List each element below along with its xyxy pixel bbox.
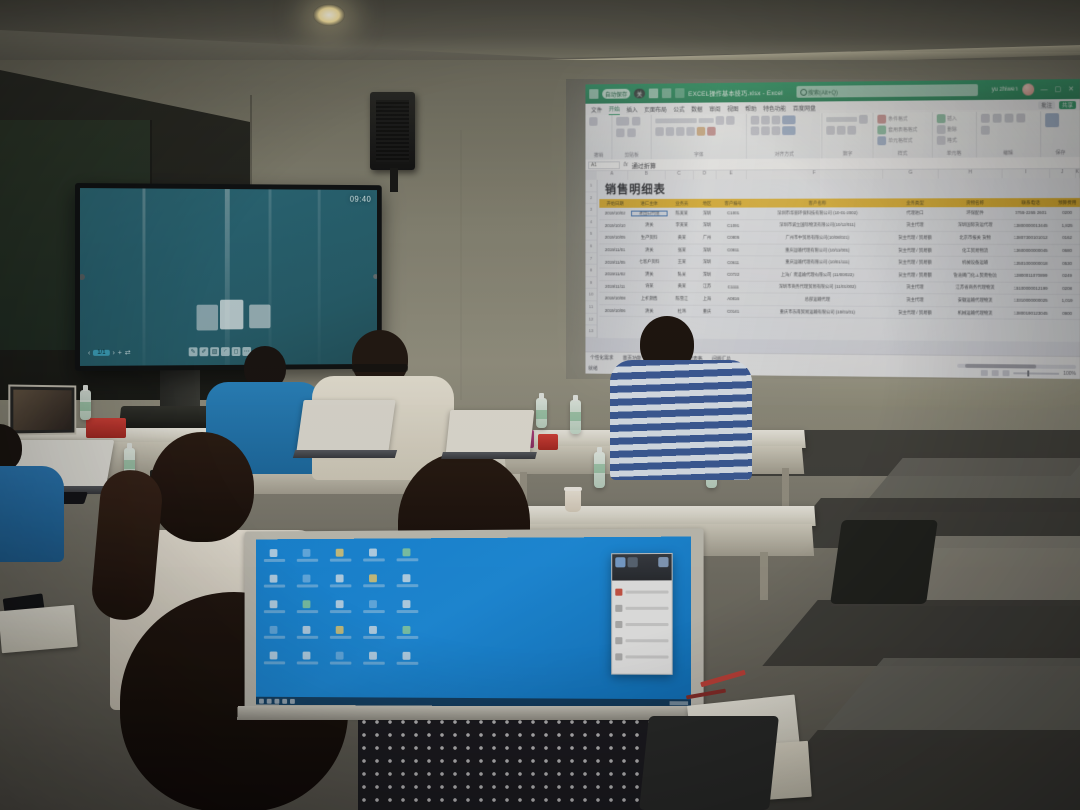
- sheet-heading: 销售明细表: [605, 181, 666, 198]
- avatar: [615, 557, 625, 567]
- cell[interactable]: 0162: [1054, 235, 1080, 240]
- undo-icon[interactable]: [662, 88, 671, 98]
- group-label: 单元格: [936, 150, 971, 158]
- insert-cells-icon[interactable]: [936, 114, 945, 123]
- cell-styles-icon[interactable]: [878, 136, 887, 145]
- wall-seam: [460, 130, 462, 400]
- th-business-type: 业务类型: [887, 200, 943, 206]
- screen-glare: [197, 305, 218, 331]
- avatar: [658, 557, 668, 567]
- smart-whiteboard[interactable]: 09:40 ‹ 1/1 › + ⇄ ✎ ✐ ▧ ◜ ◻ ⋯: [75, 183, 382, 371]
- align-right-icon[interactable]: [772, 126, 781, 135]
- ribbon-group-alignment: 对齐方式: [747, 113, 823, 159]
- search-box[interactable]: 搜索(Alt+Q): [796, 84, 977, 98]
- cell[interactable]: 陈某: [668, 271, 696, 277]
- th-phone: 联系电话: [1007, 200, 1054, 206]
- cell[interactable]: 代理进口: [887, 210, 943, 216]
- cell[interactable]: 1,019: [1054, 298, 1080, 303]
- ribbon-group-editing: 编辑: [977, 111, 1041, 157]
- cell[interactable]: 深圳市诚立国际物流有限公司(10/12/011): [748, 222, 887, 228]
- select-all-corner[interactable]: [585, 171, 596, 180]
- document-name: EXCEL操作基本技巧.xlsx - Excel: [688, 87, 783, 98]
- cell[interactable]: C0722: [718, 272, 748, 277]
- highlighter-icon[interactable]: ✐: [199, 347, 208, 356]
- cell[interactable]: 上海: [696, 296, 718, 302]
- chat-icon[interactable]: [282, 698, 287, 703]
- cell[interactable]: 2019/10/10: [599, 223, 630, 228]
- save-icon[interactable]: [649, 88, 658, 98]
- glasses-icon: [352, 364, 408, 372]
- conditional-format-icon[interactable]: [878, 115, 887, 124]
- cell[interactable]: 货主代理: [887, 222, 943, 228]
- pen-icon[interactable]: ✎: [189, 347, 198, 356]
- cell[interactable]: 货主代理 / 贸易额: [887, 272, 943, 278]
- close-button[interactable]: ✕: [1068, 85, 1074, 93]
- tab-features[interactable]: 特色功能: [763, 103, 786, 112]
- ribbon-right-actions: 批注 共享: [1038, 101, 1080, 109]
- merge-center-icon[interactable]: [782, 126, 795, 135]
- cell[interactable]: 黄某: [668, 235, 696, 241]
- fill-color-icon[interactable]: [697, 127, 705, 136]
- ribbon-body: 撤销 剪贴板 字体: [585, 111, 1080, 161]
- table-row[interactable]: 2019/11/01 清关 张某 深圳 C0811 重庆运输代理有限公司 (10…: [599, 244, 1080, 257]
- water-bottle: [536, 398, 547, 428]
- paper-sheet: [0, 605, 78, 653]
- cell[interactable]: 环保配件: [943, 210, 1007, 216]
- ribbon-group-styles: 条件格式 套用表格格式 单元格样式 样式: [874, 112, 933, 158]
- ribbon-group-number: 数字: [823, 113, 874, 159]
- tab-formulas[interactable]: 公式: [673, 104, 684, 113]
- whiteboard-page-nav[interactable]: ‹ 1/1 › + ⇄: [88, 349, 131, 357]
- wechat-header: [612, 554, 671, 581]
- view-page-layout-icon[interactable]: [992, 370, 999, 376]
- table-row[interactable]: 2019/10/02 进出口代理 陈某某 深圳 C1001 深圳市华丽环保科技有…: [599, 207, 1080, 220]
- cell[interactable]: 广州: [696, 235, 718, 241]
- carpet-tile: [816, 658, 1080, 738]
- cell[interactable]: 0530: [1054, 261, 1080, 266]
- cell-styles-label: 单元格样式: [888, 137, 912, 144]
- cell[interactable]: 机械运输代理物流: [943, 310, 1007, 316]
- th-salesperson: 业务员: [668, 200, 696, 206]
- notification-badge-icon: [615, 589, 622, 596]
- comments-button[interactable]: 批注: [1038, 101, 1055, 109]
- whiteboard-clock: 09:40: [350, 195, 371, 204]
- red-box-item: [86, 418, 126, 438]
- status-ready: 就绪: [588, 365, 597, 372]
- plus-icon[interactable]: +: [118, 349, 122, 356]
- chat-list-item[interactable]: [615, 635, 668, 646]
- row-header[interactable]: 13: [585, 325, 596, 337]
- carpet-tile: [762, 600, 1080, 666]
- cell[interactable]: C0805: [718, 235, 748, 240]
- currency-icon[interactable]: [827, 126, 836, 135]
- cell[interactable]: 上海广易运输代理有限公司 (11/00/022): [748, 272, 887, 278]
- maximize-button[interactable]: ▢: [1055, 85, 1062, 93]
- screen-glare: [249, 305, 270, 329]
- cell[interactable]: 2019/11/05: [599, 260, 630, 265]
- cell[interactable]: 13310000000025: [1007, 298, 1054, 303]
- ribbon-group-save: 保存: [1041, 111, 1080, 157]
- classroom-photo-scene: 自动保存 关 EXCEL操作基本技巧.xlsx - Excel 搜索(Alt+Q…: [0, 0, 1080, 810]
- system-tray[interactable]: [670, 701, 689, 705]
- cell[interactable]: 王某: [668, 259, 696, 265]
- chevron-left-icon[interactable]: ‹: [88, 349, 90, 356]
- cell[interactable]: 进出口代理: [631, 210, 668, 216]
- cell[interactable]: 13807300101012: [1007, 235, 1054, 240]
- col-D[interactable]: D: [694, 171, 717, 180]
- speaker-mount: [390, 168, 398, 192]
- tab-home[interactable]: 开始: [609, 104, 620, 115]
- th-import-entity: 进口主体: [631, 200, 668, 206]
- cell[interactable]: 深圳: [696, 223, 718, 229]
- cell[interactable]: 深圳: [696, 247, 718, 253]
- cell[interactable]: 货主代理 / 贸易额: [887, 235, 943, 241]
- col-H[interactable]: H: [939, 169, 1003, 178]
- col-A[interactable]: A: [597, 171, 629, 180]
- cell[interactable]: 重庆: [696, 308, 718, 314]
- cell[interactable]: 深圳国际货运代理: [943, 222, 1007, 228]
- delete-label: 删除: [947, 126, 957, 133]
- row-header[interactable]: 12: [585, 313, 596, 325]
- align-left-icon[interactable]: [751, 126, 760, 135]
- tab-file[interactable]: 文件: [591, 105, 602, 114]
- row-header[interactable]: 1: [585, 180, 596, 192]
- view-page-break-icon[interactable]: [1003, 370, 1010, 376]
- col-J[interactable]: J: [1050, 169, 1076, 178]
- cell[interactable]: 13800011070899: [1007, 273, 1054, 278]
- cell[interactable]: C0811: [718, 248, 748, 253]
- shape-icon[interactable]: ◻: [232, 347, 241, 356]
- cell[interactable]: 重庆运输代理有限公司 (10/01/111): [748, 259, 887, 265]
- percent-icon[interactable]: [837, 126, 846, 135]
- whiteboard-screen[interactable]: 09:40 ‹ 1/1 › + ⇄ ✎ ✐ ▧ ◜ ◻ ⋯: [80, 188, 377, 366]
- row-header[interactable]: 7: [585, 253, 596, 265]
- chair: [639, 716, 779, 810]
- folder-icon[interactable]: [267, 698, 272, 703]
- paper-cup: [565, 490, 581, 512]
- cell[interactable]: 化工贸易物流: [943, 247, 1007, 253]
- cell[interactable]: 重庆市东南贸易运输有限公司 (10/01/01): [748, 309, 887, 316]
- th-goods-name: 货物名称: [943, 200, 1007, 206]
- cell[interactable]: 七客户资料: [631, 259, 668, 265]
- col-K[interactable]: K: [1076, 169, 1080, 178]
- cell[interactable]: 2019/10/08: [599, 296, 630, 301]
- cell[interactable]: 0900: [1054, 311, 1080, 316]
- row-header[interactable]: 9: [585, 277, 596, 289]
- format-table-label: 套用表格格式: [888, 126, 917, 133]
- col-G[interactable]: G: [883, 170, 939, 179]
- cell[interactable]: 深圳: [696, 210, 718, 216]
- cell[interactable]: C1091: [718, 223, 748, 228]
- comma-icon[interactable]: [848, 126, 857, 135]
- increase-font-icon[interactable]: [716, 116, 725, 125]
- formula-input[interactable]: 通过折算: [632, 160, 656, 170]
- chat-list-item[interactable]: [615, 603, 668, 614]
- cell[interactable]: 2019/10/05: [599, 235, 630, 240]
- cell[interactable]: 深圳市商务代理贸易有限公司 (11/01/002): [748, 284, 887, 290]
- group-label: 撤销: [589, 152, 608, 160]
- screen-glare: [220, 300, 243, 330]
- cell[interactable]: 2019/11/11: [599, 284, 630, 289]
- cell[interactable]: 上机销售: [631, 296, 668, 302]
- fill-icon[interactable]: [992, 114, 1001, 123]
- start-icon[interactable]: [259, 698, 264, 703]
- align-center-icon[interactable]: [761, 126, 770, 135]
- cell[interactable]: 0249: [1054, 273, 1080, 278]
- cell[interactable]: 清关: [631, 247, 668, 253]
- whiteboard-toolbar[interactable]: ✎ ✐ ▧ ◜ ◻ ⋯: [189, 347, 251, 356]
- cell[interactable]: 黄某: [668, 284, 696, 290]
- sales-detail-table: 开始日期 进口主体 业务员 地区 客户编号 客户名称 业务类型 货物名称 联系电…: [599, 198, 1080, 320]
- share-button[interactable]: 共享: [1059, 101, 1076, 109]
- sort-filter-icon[interactable]: [1016, 113, 1025, 122]
- clear-icon[interactable]: [1004, 114, 1013, 123]
- autosave-label: 自动保存: [605, 89, 627, 98]
- row-header[interactable]: 5: [585, 228, 596, 240]
- tab-baidu-netdisk[interactable]: 百度网盘: [793, 103, 816, 112]
- number-format-dropdown-icon[interactable]: [859, 115, 868, 124]
- row-header[interactable]: 10: [585, 289, 596, 301]
- cell[interactable]: 李某某: [668, 223, 696, 229]
- cell[interactable]: 2019/10/06: [599, 308, 630, 313]
- cell[interactable]: 机械设备运输: [943, 260, 1007, 266]
- align-middle-icon[interactable]: [761, 116, 770, 125]
- eraser-icon[interactable]: ▧: [210, 347, 219, 356]
- cell[interactable]: 15100000012199: [1007, 286, 1054, 291]
- user-name: yu zhiwen: [992, 87, 1018, 93]
- col-E[interactable]: E: [716, 170, 746, 179]
- cell[interactable]: 管道阀门化工贸易物流: [943, 272, 1007, 278]
- ribbon-group-font: 字体: [652, 114, 747, 159]
- water-bottle: [570, 400, 581, 434]
- undo-icon[interactable]: [589, 117, 597, 126]
- ribbon-group-cells: 插入 删除 格式 单元格: [933, 112, 977, 158]
- cell[interactable]: A0816: [718, 297, 748, 302]
- cell[interactable]: 安徽运输代理物流: [943, 297, 1007, 303]
- water-bottle: [594, 452, 605, 488]
- row-header[interactable]: 3: [585, 204, 596, 216]
- cell[interactable]: 陈雪江: [668, 296, 696, 302]
- laptop-screen[interactable]: [256, 537, 691, 708]
- baidu-netdisk-icon[interactable]: [1045, 113, 1059, 127]
- cell[interactable]: C0611: [718, 260, 748, 265]
- bold-icon[interactable]: [655, 127, 663, 136]
- cell[interactable]: 深圳: [696, 259, 718, 265]
- cell[interactable]: C1001: [718, 211, 748, 216]
- cell[interactable]: 广州市中贸易有限公司(10/08/021): [748, 235, 887, 241]
- cell[interactable]: 13501000000018: [1007, 261, 1054, 266]
- screen-reflection: [142, 188, 145, 365]
- table-row[interactable]: 2019/10/05 生产资料 黄某 广州 C0805 广州市中贸易有限公司(1…: [599, 232, 1080, 245]
- view-normal-icon[interactable]: [981, 370, 988, 376]
- lasso-icon[interactable]: ◜: [221, 347, 230, 356]
- tab-insert[interactable]: 插入: [626, 105, 637, 114]
- th-customer-id: 客户编号: [718, 200, 748, 206]
- italic-icon[interactable]: [666, 127, 674, 136]
- format-label: 格式: [947, 137, 957, 144]
- zoom-slider[interactable]: [1014, 372, 1060, 374]
- share-icon[interactable]: ⇄: [125, 349, 131, 357]
- account-area[interactable]: yu zhiwen — ▢ ✕: [992, 83, 1076, 96]
- desk-leg: [782, 468, 789, 508]
- zoom-level[interactable]: 100%: [1063, 371, 1076, 377]
- cell[interactable]: 重庆运输代理有限公司 (10/11/001): [748, 247, 887, 253]
- wechat-window[interactable]: [611, 553, 672, 675]
- conditional-format-label: 条件格式: [888, 115, 907, 122]
- water-bottle: [80, 390, 91, 420]
- row-header[interactable]: 11: [585, 301, 596, 313]
- desk-leg: [760, 552, 768, 600]
- cell[interactable]: 13800000013445: [1007, 223, 1054, 228]
- cell[interactable]: 清关: [631, 308, 668, 314]
- row-header[interactable]: 4: [585, 216, 596, 228]
- autosave-state[interactable]: 关: [634, 89, 645, 99]
- status-right-controls: 100%: [981, 370, 1076, 377]
- minimize-button[interactable]: —: [1041, 86, 1048, 93]
- group-label: 保存: [1045, 149, 1076, 157]
- chair: [830, 520, 938, 604]
- chat-list-item[interactable]: [615, 586, 668, 597]
- avatar: [628, 557, 638, 567]
- cell[interactable]: 北京市报关 货物: [943, 235, 1007, 241]
- horizontal-scrollbar[interactable]: [957, 364, 1076, 369]
- delete-cells-icon[interactable]: [936, 125, 945, 134]
- row-header[interactable]: 8: [585, 265, 596, 277]
- row-header[interactable]: 2: [585, 192, 596, 204]
- cell[interactable]: 0200: [1054, 210, 1080, 215]
- ceiling-downlight: [313, 4, 345, 26]
- cell[interactable]: 货主代理: [887, 297, 943, 303]
- cell[interactable]: 1,825: [1054, 223, 1080, 228]
- cell[interactable]: 2019/10/02: [599, 211, 630, 216]
- font-color-icon[interactable]: [707, 127, 716, 136]
- wrap-text-icon[interactable]: [782, 115, 795, 124]
- group-label: 剪贴板: [616, 152, 647, 160]
- find-select-icon[interactable]: [980, 126, 989, 135]
- cell[interactable]: 13600000000045: [1007, 248, 1054, 253]
- align-top-icon[interactable]: [751, 116, 760, 125]
- th-budget: 预算费用: [1054, 200, 1080, 206]
- cell[interactable]: 生产资料: [631, 235, 668, 241]
- group-label: 数字: [827, 150, 869, 158]
- decrease-font-icon[interactable]: [726, 116, 735, 125]
- red-item: [538, 434, 558, 450]
- browser-icon[interactable]: [275, 698, 280, 703]
- avatar[interactable]: [1022, 83, 1034, 95]
- cell[interactable]: 张某: [668, 247, 696, 253]
- excel-logo-icon: [589, 89, 598, 99]
- col-C[interactable]: C: [665, 171, 693, 180]
- mail-icon[interactable]: [290, 698, 295, 703]
- cell[interactable]: 0755-2265 2601: [1007, 210, 1054, 215]
- copy-icon[interactable]: [616, 128, 624, 137]
- col-B[interactable]: B: [628, 171, 665, 180]
- format-cells-icon[interactable]: [936, 136, 945, 145]
- cell[interactable]: 0208: [1054, 286, 1080, 291]
- windows-desktop[interactable]: [256, 537, 691, 708]
- cell[interactable]: 2019/11/02: [599, 272, 630, 277]
- border-icon[interactable]: [686, 127, 694, 136]
- cut-icon[interactable]: [632, 117, 640, 126]
- table-row[interactable]: 2019/10/10 清关 李某某 深圳 C1091 深圳市诚立国际物流有限公司…: [599, 220, 1080, 233]
- cell[interactable]: 总部运输代理: [748, 296, 887, 303]
- redo-icon[interactable]: [675, 88, 684, 98]
- insert-label: 插入: [947, 115, 957, 122]
- align-bottom-icon[interactable]: [772, 116, 781, 125]
- tab-page-layout[interactable]: 页面布局: [644, 104, 667, 113]
- tab-data[interactable]: 数据: [691, 104, 702, 113]
- cell[interactable]: 深圳: [696, 272, 718, 278]
- name-box[interactable]: A1: [588, 161, 620, 169]
- cell[interactable]: 清关: [631, 271, 668, 277]
- format-as-table-icon[interactable]: [878, 125, 887, 134]
- cell[interactable]: 陈某某: [668, 210, 696, 216]
- tab-review[interactable]: 审阅: [709, 104, 720, 113]
- th-start-date: 开始日期: [599, 200, 630, 206]
- th-region: 地区: [696, 200, 718, 206]
- cell[interactable]: 货主代理 / 贸易额: [887, 309, 943, 315]
- autosave-toggle[interactable]: 自动保存: [602, 89, 630, 99]
- tab-help[interactable]: 帮助: [745, 104, 756, 113]
- cell[interactable]: 清关: [631, 223, 668, 229]
- chevron-right-icon[interactable]: ›: [112, 349, 114, 356]
- cell[interactable]: C0141: [718, 309, 748, 314]
- cell[interactable]: 许某: [631, 283, 668, 289]
- cell[interactable]: 深圳市华丽环保科技有限公司 (10-01-2002): [748, 210, 887, 216]
- ribbon-group-clipboard: 剪贴板: [613, 115, 652, 160]
- cell[interactable]: 江苏: [696, 284, 718, 290]
- row-header-column: 1 2 3 4 5 6 7 8 9 10 11 12 13: [585, 180, 597, 338]
- col-I[interactable]: I: [1003, 169, 1050, 178]
- cell[interactable]: 江苏省商务代理物流: [943, 285, 1007, 291]
- framed-picture: [8, 384, 76, 435]
- underline-icon[interactable]: [676, 127, 684, 136]
- cell[interactable]: 2019/11/01: [599, 247, 630, 252]
- row-header[interactable]: 6: [585, 241, 596, 253]
- autosum-icon[interactable]: [980, 114, 989, 123]
- format-painter-icon[interactable]: [628, 128, 636, 137]
- tab-view[interactable]: 视图: [727, 104, 738, 113]
- chat-list-item[interactable]: [615, 619, 668, 630]
- sheet-tab[interactable]: 个性化需求: [588, 354, 615, 361]
- wall-speaker: [370, 92, 415, 170]
- cell[interactable]: 13800190123045: [1007, 311, 1054, 316]
- screen-reflection: [269, 189, 272, 364]
- cell[interactable]: 货主代理 / 贸易额: [887, 247, 943, 253]
- ribbon-group-undo: 撤销: [585, 115, 612, 160]
- cell[interactable]: C1111: [718, 284, 748, 289]
- board-sensor-right: [373, 274, 377, 279]
- board-sensor-left: [80, 274, 85, 280]
- screen-reflection: [318, 190, 321, 365]
- screen-reflection: [225, 189, 230, 365]
- cell[interactable]: 杜玮: [668, 308, 696, 314]
- cell[interactable]: 货主代理: [887, 285, 943, 291]
- fx-icon[interactable]: fx: [624, 162, 628, 168]
- paste-icon[interactable]: [616, 117, 629, 126]
- th-customer-name: 客户名称: [748, 200, 887, 206]
- cell[interactable]: 货主代理 / 贸易额: [887, 260, 943, 266]
- cell[interactable]: 0680: [1054, 248, 1080, 253]
- page-indicator: 1/1: [93, 350, 109, 356]
- chat-list-item[interactable]: [615, 651, 668, 662]
